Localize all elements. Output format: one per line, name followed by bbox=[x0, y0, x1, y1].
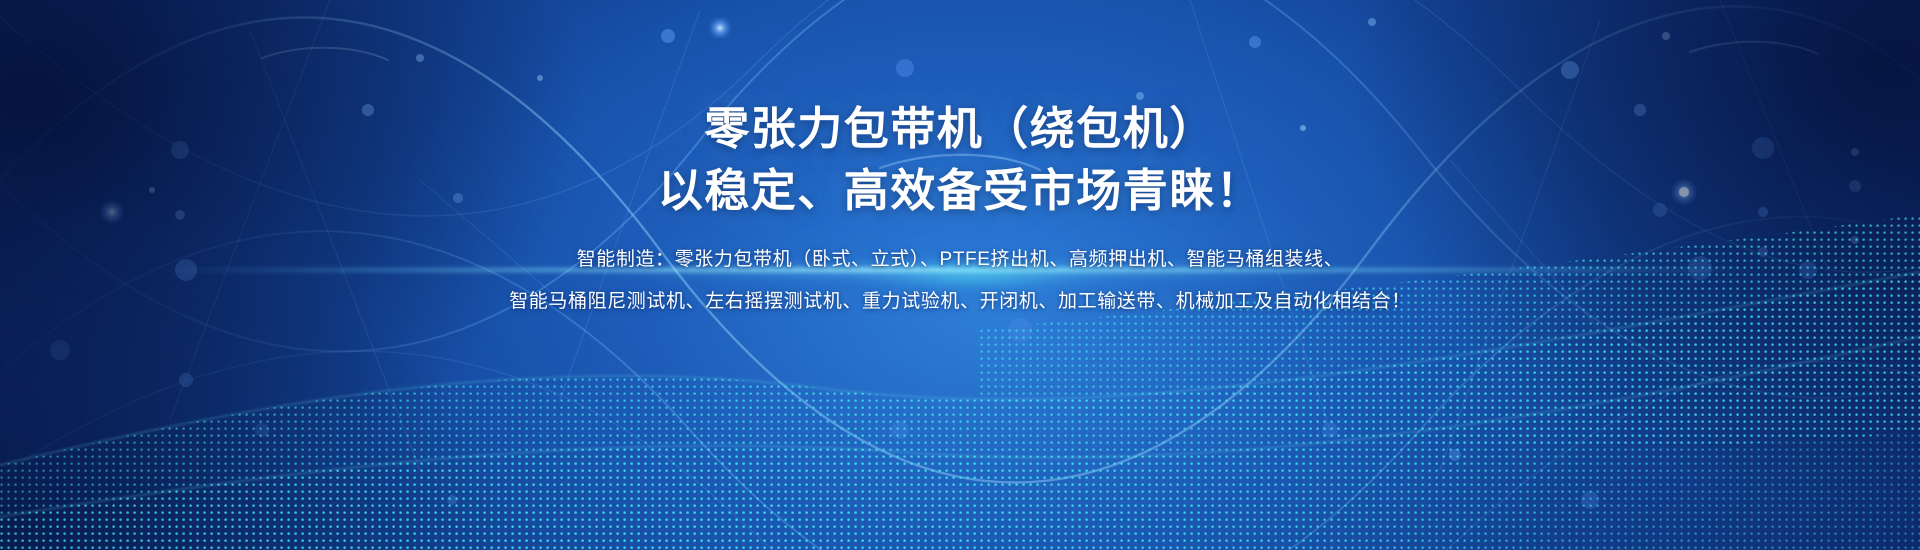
banner-subtitle: 智能制造：零张力包带机（卧式、立式）、PTFE挤出机、高频押出机、智能马桶组装线… bbox=[509, 248, 1411, 314]
hero-banner: 零张力包带机（绕包机） 以稳定、高效备受市场青睐！ 智能制造：零张力包带机（卧式… bbox=[0, 0, 1920, 550]
headline-line-2: 以稳定、高效备受市场青睐！ bbox=[658, 160, 1263, 222]
subtitle-line-2: 智能马桶阻尼测试机、左右摇摆测试机、重力试验机、开闭机、加工输送带、机械加工及自… bbox=[509, 290, 1411, 314]
subtitle-line-1: 智能制造：零张力包带机（卧式、立式）、PTFE挤出机、高频押出机、智能马桶组装线… bbox=[509, 248, 1411, 272]
banner-content: 零张力包带机（绕包机） 以稳定、高效备受市场青睐！ 智能制造：零张力包带机（卧式… bbox=[0, 0, 1920, 550]
banner-headline: 零张力包带机（绕包机） 以稳定、高效备受市场青睐！ bbox=[658, 98, 1263, 222]
headline-line-1: 零张力包带机（绕包机） bbox=[704, 103, 1216, 154]
